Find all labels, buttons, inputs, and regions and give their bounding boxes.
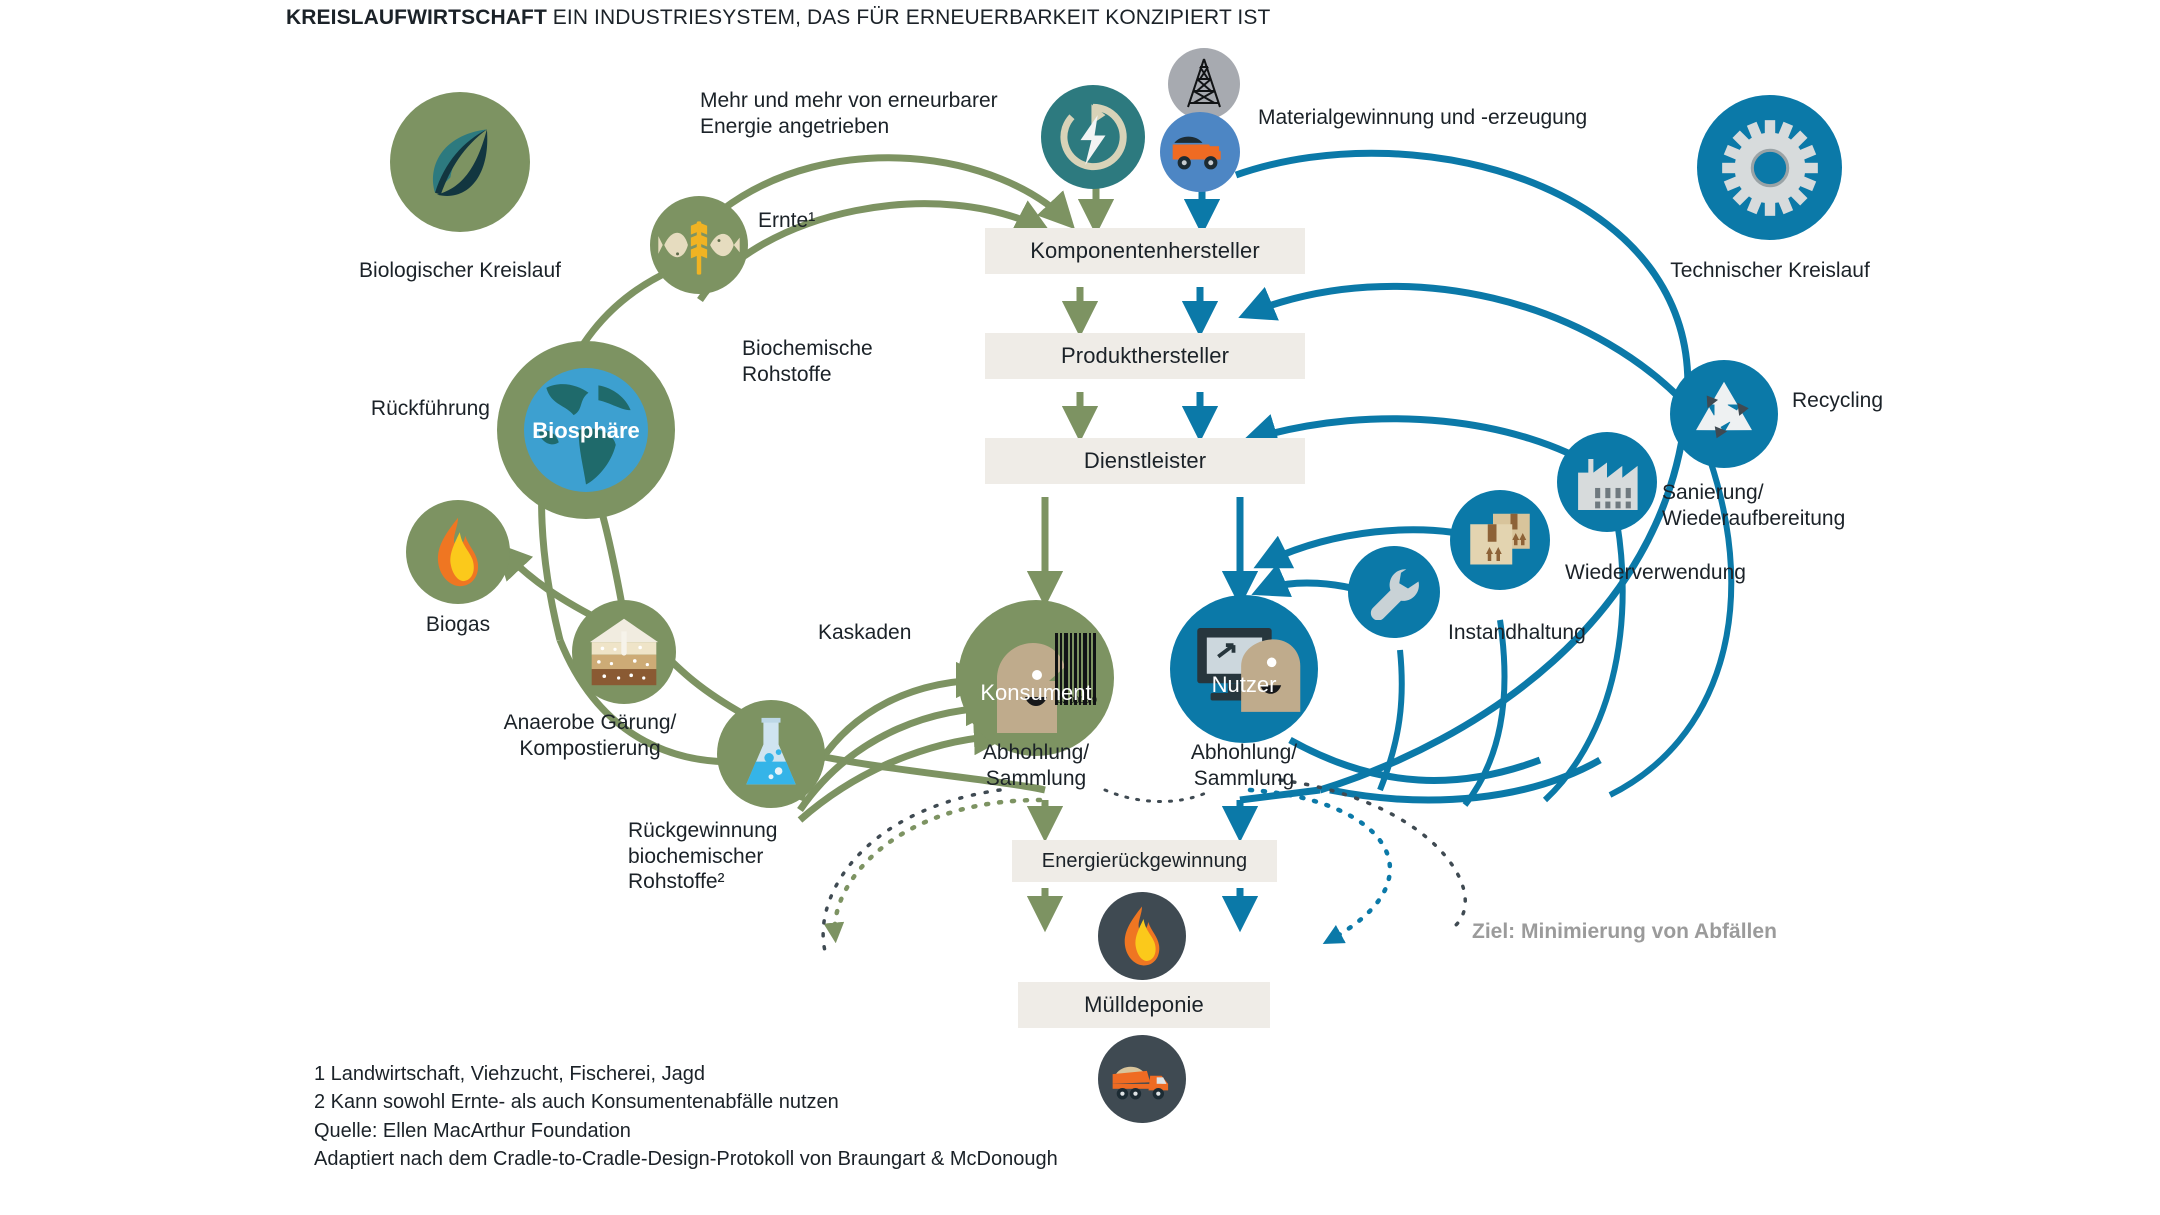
biochemical-extraction-node[interactable] — [717, 700, 825, 808]
boxes-icon — [1465, 510, 1535, 570]
biological-cycle-label: Biologischer Kreislauf — [300, 258, 620, 284]
renewable-energy-icon — [1041, 85, 1145, 189]
title-strong: KREISLAUFWIRTSCHAFT — [286, 6, 547, 29]
technical-cycle-label: Technischer Kreislauf — [1610, 258, 1930, 284]
compost-soil-icon — [588, 617, 660, 687]
user-monitor-head-icon — [1182, 607, 1306, 731]
refurbish-node[interactable] — [1557, 432, 1657, 532]
leaf-icon — [390, 92, 530, 232]
konsument-collection-label: Abhohlung/ Sammlung — [960, 740, 1112, 791]
box-komponentenhersteller[interactable]: Komponentenhersteller — [985, 228, 1305, 274]
anaerobic-digestion-label: Anaerobe Gärung/ Kompostierung — [430, 710, 750, 761]
box-muelldeponie[interactable]: Mülldeponie — [1018, 982, 1270, 1028]
wrench-icon — [1366, 564, 1422, 620]
consumer-barcode-head-icon: 03 0006 9 — [971, 613, 1101, 743]
title-rest: EIN INDUSTRIESYSTEM, DAS FÜR ERNEUERBARK… — [547, 6, 1271, 29]
waste-goal-label: Ziel: Minimierung von Abfällen — [1472, 920, 1777, 944]
cascades-label: Kaskaden — [818, 620, 911, 646]
flame-dark-icon — [1118, 905, 1166, 967]
konsument-label: Konsument — [958, 680, 1114, 706]
konsument-node[interactable]: 03 0006 9 — [958, 600, 1114, 756]
box-dienstleister[interactable]: Dienstleister — [985, 438, 1305, 484]
material-extraction-label: Materialgewinnung und -erzeugung — [1258, 105, 1587, 131]
biogas-node[interactable] — [406, 500, 510, 604]
biosphere-label: Biosphäre — [497, 418, 675, 444]
restoration-label: Rückführung — [300, 396, 490, 422]
box-energierueckgewinnung[interactable]: Energierückgewinnung — [1012, 840, 1277, 882]
maintain-node[interactable] — [1348, 546, 1440, 638]
renewable-energy-label: Mehr und mehr von erneurbarer Energie an… — [700, 88, 998, 139]
recycle-icon — [1686, 376, 1762, 452]
flame-icon — [430, 516, 486, 588]
footnotes: 1 Landwirtschaft, Viehzucht, Fischerei, … — [314, 1060, 1058, 1174]
recycling-label: Recycling — [1792, 388, 1883, 414]
gear-icon — [1697, 95, 1842, 240]
anaerobic-digestion-node[interactable] — [572, 600, 676, 704]
landfill-node[interactable] — [1098, 1035, 1186, 1123]
biochemical-extraction-label: Rückgewinnung biochemischer Rohstoffe² — [628, 818, 777, 895]
factory-icon — [1573, 453, 1641, 511]
nutzer-collection-label: Abhohlung/ Sammlung — [1168, 740, 1320, 791]
maintain-label: Instandhaltung — [1448, 620, 1586, 646]
biogas-label: Biogas — [376, 612, 540, 638]
flask-icon — [740, 716, 802, 792]
dump-truck-icon — [1111, 1057, 1173, 1101]
reuse-label: Wiederverwendung — [1565, 560, 1746, 586]
reuse-node[interactable] — [1450, 490, 1550, 590]
page-title: KREISLAUFWIRTSCHAFT EIN INDUSTRIESYSTEM,… — [286, 6, 1270, 30]
nutzer-label: Nutzer — [1170, 672, 1318, 698]
recycling-node[interactable] — [1670, 360, 1778, 468]
box-produkthersteller[interactable]: Produkthersteller — [985, 333, 1305, 379]
oil-rig-icon — [1168, 48, 1240, 120]
biochemical-feedstock-label: Biochemische Rohstoffe — [742, 336, 873, 387]
nutzer-node[interactable] — [1170, 595, 1318, 743]
refurbish-label: Sanierung/ Wiederaufbereitung — [1662, 480, 1845, 531]
harvest-fish-wheat-icon — [650, 196, 748, 294]
harvest-label: Ernte¹ — [758, 208, 815, 234]
circular-economy-diagram: KREISLAUFWIRTSCHAFT EIN INDUSTRIESYSTEM,… — [0, 0, 2160, 1215]
mining-truck-icon — [1160, 112, 1240, 192]
energy-recovery-node[interactable] — [1098, 892, 1186, 980]
